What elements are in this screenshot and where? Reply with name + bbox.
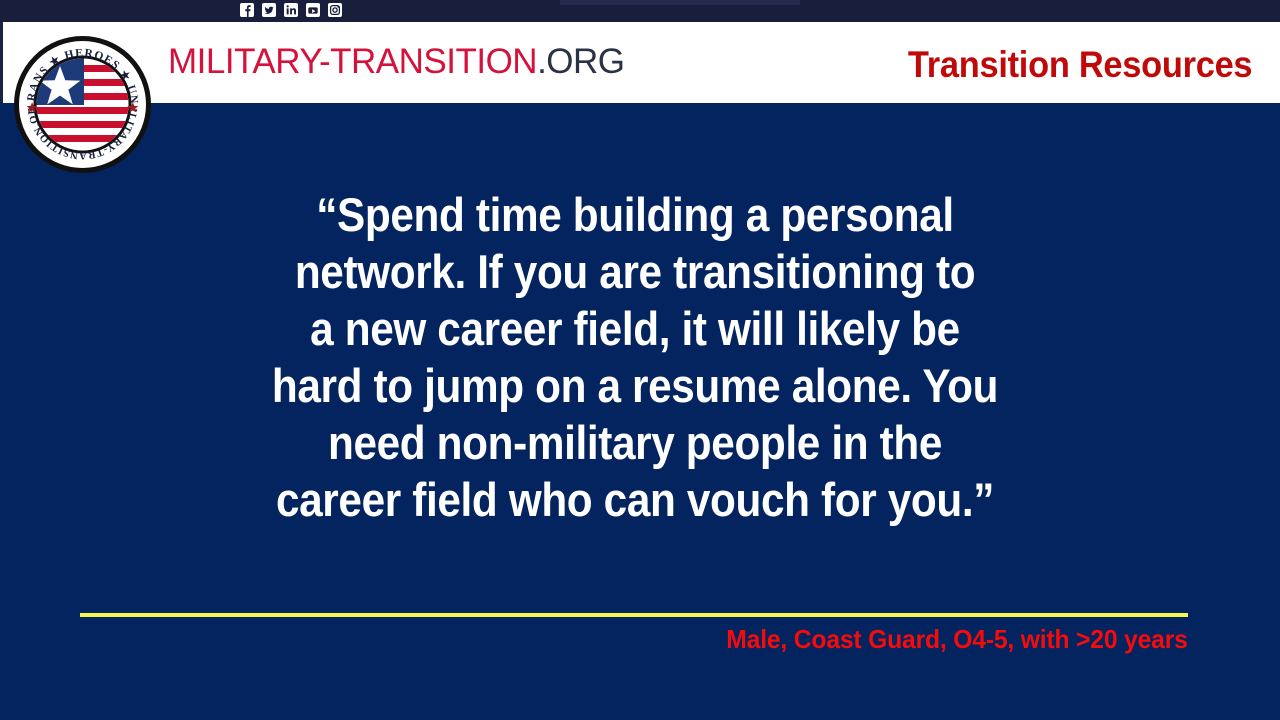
facebook-icon[interactable] [240, 3, 254, 17]
attribution-divider [80, 613, 1188, 617]
youtube-icon[interactable] [306, 3, 320, 17]
quote-line: a new career field, it will likely be [136, 300, 1135, 357]
site-logo[interactable]: VETERANS ★ HEROES ★ UNITED MILITARY-TRAN… [14, 36, 151, 173]
quote-line: need non-military people in the [136, 414, 1135, 471]
social-bar [0, 0, 1280, 22]
page-title: Transition Resources [908, 44, 1252, 86]
header-left-edge [0, 22, 3, 103]
instagram-icon[interactable] [328, 3, 342, 17]
site-name[interactable]: MILITARY-TRANSITION.ORG [168, 42, 625, 82]
site-name-tld: .ORG [537, 42, 624, 81]
quote-line: hard to jump on a resume alone. You [136, 357, 1135, 414]
quote-attribution: Male, Coast Guard, O4-5, with >20 years [727, 624, 1188, 655]
quote-line: network. If you are transitioning to [136, 243, 1135, 300]
social-icon-list [240, 3, 342, 17]
twitter-icon[interactable] [262, 3, 276, 17]
site-name-main: MILITARY-TRANSITION [168, 42, 537, 81]
social-bar-highlight [560, 0, 800, 5]
quote-block: “Spend time building a personal network.… [80, 186, 1190, 528]
linkedin-icon[interactable] [284, 3, 298, 17]
quote-line: career field who can vouch for you.” [136, 471, 1135, 528]
quote-line: “Spend time building a personal [136, 186, 1135, 243]
presentation-slide: MILITARY-TRANSITION.ORG Transition Resou… [0, 0, 1280, 720]
